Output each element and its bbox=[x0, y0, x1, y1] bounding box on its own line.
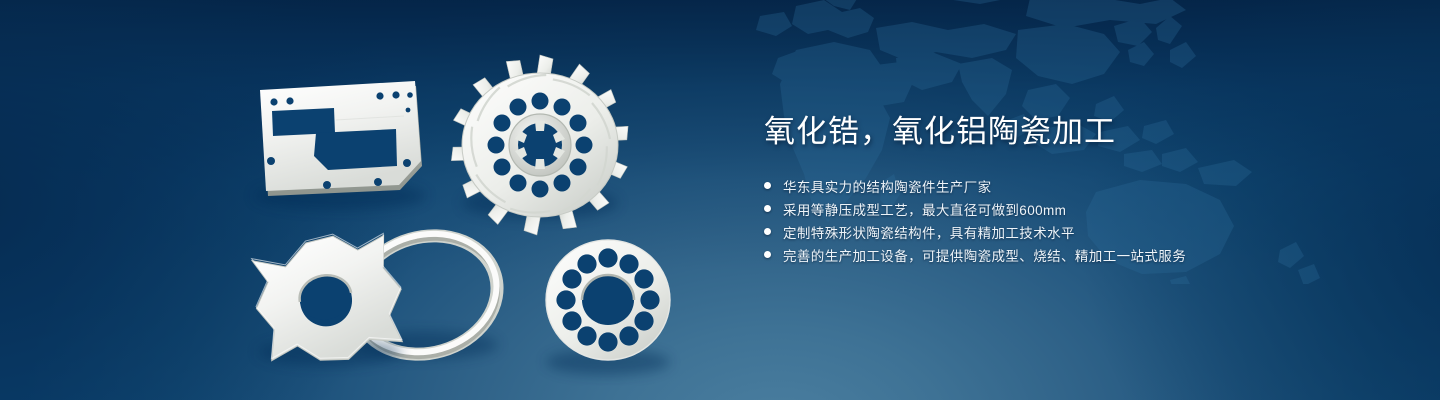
ceramic-impeller-part bbox=[449, 55, 631, 235]
banner-headline: 氧化锆，氧化铝陶瓷加工 bbox=[764, 112, 1404, 152]
feature-text: 定制特殊形状陶瓷结构件，具有精加工技术水平 bbox=[783, 222, 1075, 242]
feature-item: 定制特殊形状陶瓷结构件，具有精加工技术水平 bbox=[764, 220, 1404, 243]
bullet-dot-icon bbox=[764, 205, 771, 212]
feature-item: 采用等静压成型工艺，最大直径可做到600mm bbox=[764, 197, 1404, 220]
bullet-dot-icon bbox=[764, 182, 771, 189]
promo-banner: 氧化锆，氧化铝陶瓷加工 华东具实力的结构陶瓷件生产厂家 采用等静压成型工艺，最大… bbox=[0, 0, 1440, 400]
bullet-dot-icon bbox=[764, 228, 771, 235]
feature-text: 华东具实力的结构陶瓷件生产厂家 bbox=[783, 176, 992, 196]
feature-text: 完善的生产加工设备，可提供陶瓷成型、烧结、精加工一站式服务 bbox=[783, 245, 1186, 265]
feature-list: 华东具实力的结构陶瓷件生产厂家 采用等静压成型工艺，最大直径可做到600mm 定… bbox=[764, 174, 1404, 266]
ceramic-parts-image bbox=[0, 0, 720, 400]
ceramic-flange-part bbox=[546, 240, 670, 375]
feature-item: 完善的生产加工设备，可提供陶瓷成型、烧结、精加工一站式服务 bbox=[764, 243, 1404, 266]
banner-copy: 氧化锆，氧化铝陶瓷加工 华东具实力的结构陶瓷件生产厂家 采用等静压成型工艺，最大… bbox=[764, 112, 1404, 266]
feature-item: 华东具实力的结构陶瓷件生产厂家 bbox=[764, 174, 1404, 197]
bullet-dot-icon bbox=[764, 251, 771, 258]
ceramic-plate-part bbox=[254, 81, 426, 210]
feature-text: 采用等静压成型工艺，最大直径可做到600mm bbox=[783, 199, 1066, 219]
